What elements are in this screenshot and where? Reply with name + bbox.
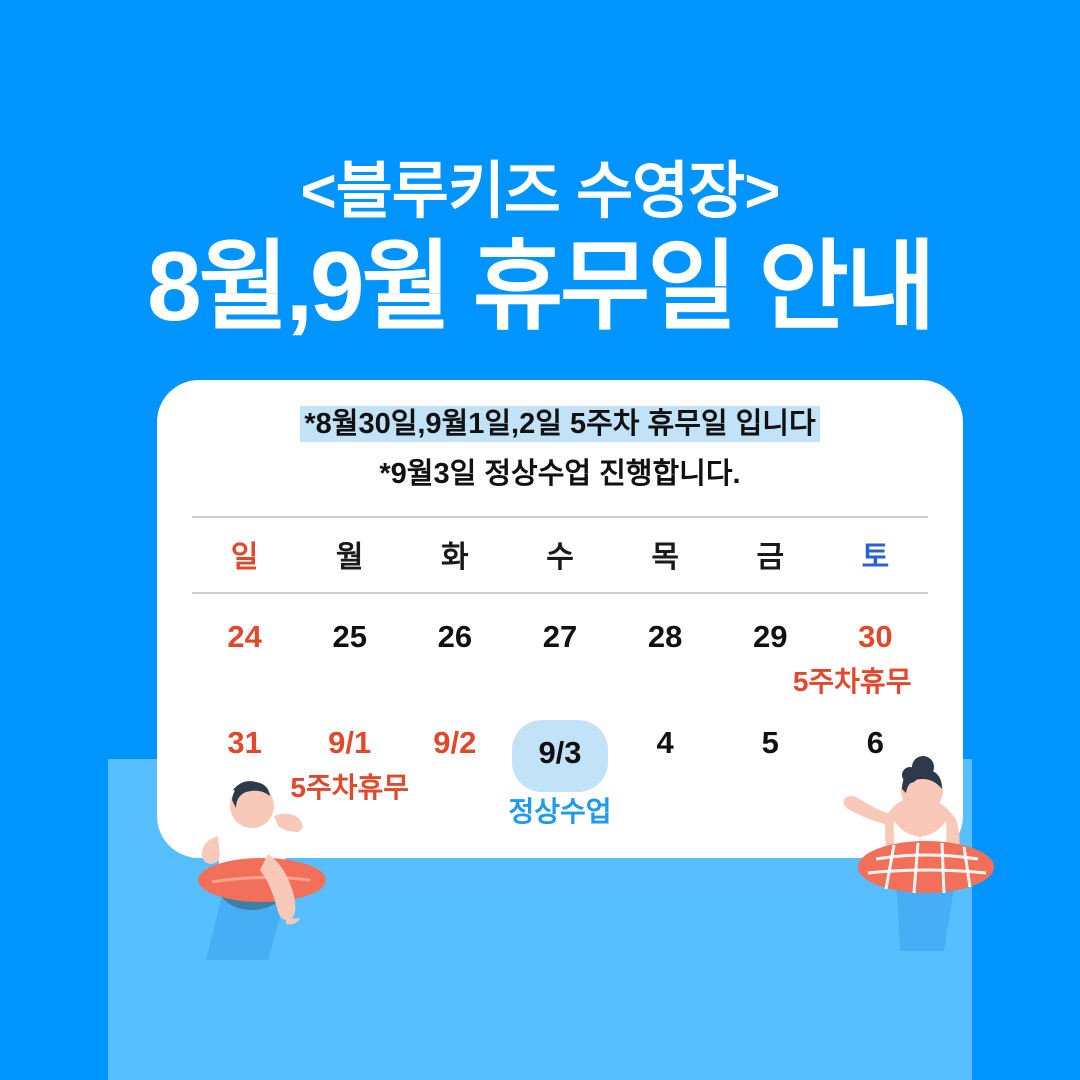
calendar-weekday-header-row: 일 월 화 수 목 금 토 <box>192 518 928 592</box>
weekday-label: 금 <box>756 541 784 574</box>
day-number: 26 <box>438 614 472 660</box>
calendar-day-cell[interactable]: 24 <box>192 614 297 700</box>
weekday-label: 토 <box>862 541 890 574</box>
weekday-header-thu: 목 <box>613 518 718 592</box>
day-number: 28 <box>648 614 682 660</box>
weekday-label: 월 <box>336 541 364 574</box>
weekday-header-sat: 토 <box>823 518 928 592</box>
notice-block: *8월30일,9월1일,2일 5주차 휴무일 입니다 *9월3일 정상수업 진행… <box>157 380 963 494</box>
weekday-header-tue: 화 <box>402 518 507 592</box>
notice-line-2: *9월3일 정상수업 진행합니다. <box>157 454 963 494</box>
notice-line-1: *8월30일,9월1일,2일 5주차 휴무일 입니다 <box>157 404 963 444</box>
day-number: 24 <box>227 614 261 660</box>
weekday-label: 화 <box>441 541 469 574</box>
day-number: 4 <box>657 720 674 766</box>
day-note-closed: 5주차휴무 <box>793 664 898 700</box>
weekday-label: 목 <box>651 541 679 574</box>
calendar-day-cell-closed[interactable]: 30 5주차휴무 <box>823 614 928 700</box>
page-title: 8월,9월 휴무일 안내 <box>0 234 1080 338</box>
weekday-header-wed: 수 <box>507 518 612 592</box>
day-number: 25 <box>332 614 366 660</box>
notice-line-1-text: *8월30일,9월1일,2일 5주차 휴무일 입니다 <box>300 406 819 442</box>
day-note-open: 정상수업 <box>507 794 612 830</box>
calendar-day-cell[interactable]: 28 <box>613 614 718 700</box>
weekday-header-fri: 금 <box>718 518 823 592</box>
day-number: 30 <box>858 614 892 660</box>
swimmer-right-illustration <box>838 755 1013 955</box>
calendar-day-cell[interactable]: 5 <box>718 720 823 830</box>
day-number: 9/3 <box>538 730 581 776</box>
poster-subtitle: <블루키즈 수영장> <box>0 158 1080 226</box>
calendar-day-cell[interactable]: 25 <box>297 614 402 700</box>
calendar-day-cell[interactable]: 4 <box>613 720 718 830</box>
weekday-header-mon: 월 <box>297 518 402 592</box>
day-highlight-pill[interactable]: 9/3 <box>512 720 607 792</box>
calendar-day-cell[interactable]: 27 <box>507 614 612 700</box>
weekday-label: 수 <box>546 541 574 574</box>
day-number: 27 <box>543 614 577 660</box>
weekday-header-sun: 일 <box>192 518 297 592</box>
day-number: 31 <box>227 720 261 766</box>
day-number: 9/1 <box>328 720 371 766</box>
poster-header: <블루키즈 수영장> 8월,9월 휴무일 안내 <box>0 0 1080 338</box>
day-number: 29 <box>753 614 787 660</box>
calendar-week-row-1: 24 25 26 27 28 29 30 5주차휴무 <box>192 594 928 700</box>
swimmer-left-illustration <box>190 770 370 960</box>
day-number: 5 <box>762 720 779 766</box>
calendar-day-cell-open[interactable]: 9/3 정상수업 <box>507 720 612 830</box>
day-number: 9/2 <box>433 720 476 766</box>
weekday-label: 일 <box>231 541 259 574</box>
calendar-day-cell[interactable]: 26 <box>402 614 507 700</box>
calendar-day-cell-closed[interactable]: 9/2 <box>402 720 507 830</box>
